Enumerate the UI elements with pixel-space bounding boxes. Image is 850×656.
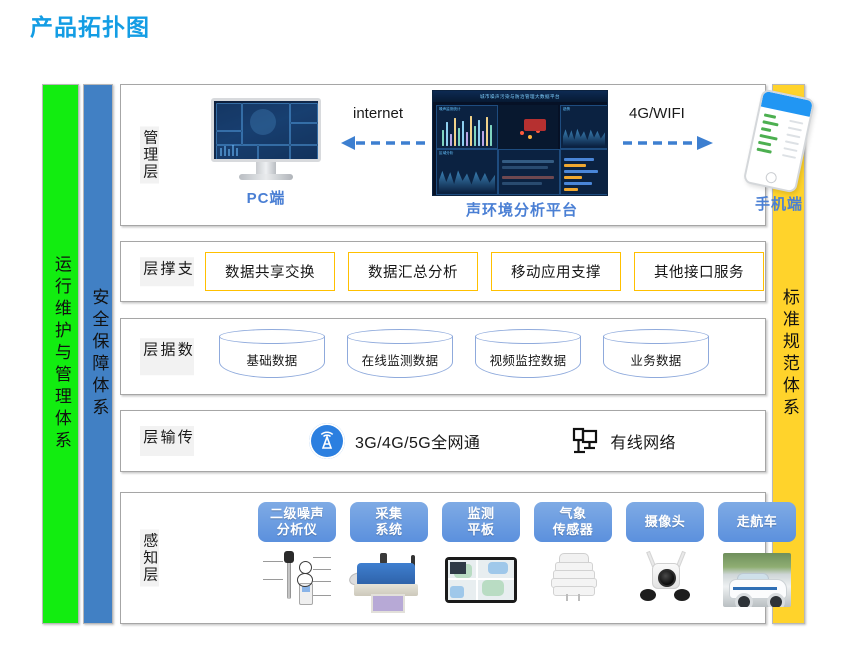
transmission-item-wireless-label: 3G/4G/5G全网通 bbox=[355, 429, 480, 453]
desktop-monitor-icon bbox=[207, 95, 325, 185]
sense-device-weather-sensor-label-1: 气象 bbox=[559, 506, 586, 522]
support-box-mobile-support[interactable]: 移动应用支撑 bbox=[491, 252, 621, 291]
management-layer-content: PC端 internet 城市噪声污染与防治管理大数据平台 噪声监测统计 bbox=[179, 85, 757, 225]
sense-device-camera-label-1: 摄像头 bbox=[645, 514, 686, 530]
side-bar-security-label: 安全保障体系 bbox=[89, 288, 108, 420]
layer-management-label: 管理层 bbox=[140, 127, 159, 184]
layer-sense: 感知层 二级噪声 分析仪 bbox=[120, 492, 766, 624]
data-cylinder-online-monitoring[interactable]: 在线监测数据 bbox=[347, 329, 453, 385]
transmission-item-wired-label: 有线网络 bbox=[610, 429, 676, 453]
support-box-data-aggregation[interactable]: 数据汇总分析 bbox=[348, 252, 478, 291]
transmission-item-wired: 有线网络 bbox=[570, 426, 676, 456]
data-layer-content: 基础数据 在线监测数据 视频监控数据 业务数据 bbox=[179, 319, 759, 394]
management-item-pc: PC端 bbox=[201, 95, 331, 208]
data-cylinder-basic[interactable]: 基础数据 bbox=[219, 329, 325, 385]
platform-screen-title: 城市噪声污染与防治管理大数据平台 bbox=[433, 91, 607, 102]
wired-network-icon bbox=[570, 426, 600, 456]
side-bar-security: 安全保障体系 bbox=[83, 84, 113, 624]
sense-device-collection-system-label-2: 系统 bbox=[375, 522, 402, 538]
camera-icon bbox=[625, 549, 705, 611]
layer-sense-label: 感知层 bbox=[140, 530, 159, 587]
arrow-right-icon bbox=[619, 131, 715, 157]
connection-4g-wifi: 4G/WIFI bbox=[619, 107, 715, 157]
connection-4g-wifi-label: 4G/WIFI bbox=[629, 105, 685, 122]
data-cylinder-video-surveillance[interactable]: 视频监控数据 bbox=[475, 329, 581, 385]
layer-support: 支撑层 数据共享交换 数据汇总分析 移动应用支撑 其他接口服务 bbox=[120, 241, 766, 302]
support-box-other-api[interactable]: 其他接口服务 bbox=[634, 252, 764, 291]
side-bar-standard-label: 标准规范体系 bbox=[779, 288, 798, 420]
connection-internet-label: internet bbox=[353, 105, 403, 122]
transmission-item-wireless: 3G/4G/5G全网通 bbox=[309, 423, 480, 459]
side-bar-operations: 运行维护与管理体系 bbox=[42, 84, 79, 624]
sense-device-weather-sensor-label-2: 传感器 bbox=[553, 522, 594, 538]
layer-data: 数据层 基础数据 在线监测数据 视频监控数据 业务数据 bbox=[120, 318, 766, 395]
data-cylinder-business-label: 业务数据 bbox=[603, 350, 709, 369]
layer-transmission: 传输层 3G/4G/5G全网通 bbox=[120, 410, 766, 472]
arrow-left-icon bbox=[339, 131, 427, 157]
wireless-signal-icon bbox=[309, 423, 345, 459]
data-cylinder-business[interactable]: 业务数据 bbox=[603, 329, 709, 385]
management-item-platform-caption: 声环境分析平台 bbox=[432, 199, 612, 220]
platform-dashboard-icon: 城市噪声污染与防治管理大数据平台 噪声监测统计 bbox=[432, 90, 608, 196]
management-item-platform: 城市噪声污染与防治管理大数据平台 噪声监测统计 bbox=[432, 90, 612, 220]
sense-device-survey-vehicle[interactable]: 走航车 bbox=[717, 502, 797, 611]
management-item-mobile-caption: 手机端 bbox=[719, 193, 839, 214]
page-title: 产品拓扑图 bbox=[30, 8, 150, 42]
sense-device-noise-analyzer[interactable]: 二级噪声 分析仪 bbox=[257, 502, 337, 611]
sense-device-monitoring-tablet-label-2: 平板 bbox=[467, 522, 494, 538]
noise-analyzer-icon bbox=[257, 549, 337, 611]
monitoring-tablet-icon bbox=[441, 549, 521, 611]
sense-layer-content: 二级噪声 分析仪 采集 系统 bbox=[179, 493, 759, 623]
sense-device-noise-analyzer-label-2: 分析仪 bbox=[277, 522, 318, 538]
support-layer-content: 数据共享交换 数据汇总分析 移动应用支撑 其他接口服务 bbox=[179, 242, 759, 301]
sense-device-noise-analyzer-label-1: 二级噪声 bbox=[270, 506, 324, 522]
survey-vehicle-icon bbox=[717, 549, 797, 611]
weather-sensor-icon bbox=[533, 549, 613, 611]
mobile-phone-icon bbox=[743, 88, 816, 193]
management-item-mobile: 手机端 bbox=[719, 93, 839, 214]
sense-device-weather-sensor[interactable]: 气象 传感器 bbox=[533, 502, 613, 611]
sense-device-monitoring-tablet-label-1: 监测 bbox=[467, 506, 494, 522]
sense-device-camera[interactable]: 摄像头 bbox=[625, 502, 705, 611]
data-cylinder-basic-label: 基础数据 bbox=[219, 350, 325, 369]
sense-device-collection-system[interactable]: 采集 系统 bbox=[349, 502, 429, 611]
layer-management: 管理层 bbox=[120, 84, 766, 226]
data-cylinder-online-monitoring-label: 在线监测数据 bbox=[347, 350, 453, 369]
collection-system-icon bbox=[349, 549, 429, 611]
sense-device-survey-vehicle-label-1: 走航车 bbox=[737, 514, 778, 530]
transmission-layer-content: 3G/4G/5G全网通 有线网络 bbox=[179, 411, 759, 471]
sense-device-collection-system-label-1: 采集 bbox=[375, 506, 402, 522]
connection-internet: internet bbox=[339, 107, 427, 157]
management-item-pc-caption: PC端 bbox=[201, 187, 331, 208]
sense-device-monitoring-tablet[interactable]: 监测 平板 bbox=[441, 502, 521, 611]
side-bar-operations-label: 运行维护与管理体系 bbox=[51, 255, 70, 453]
support-box-data-sharing[interactable]: 数据共享交换 bbox=[205, 252, 335, 291]
data-cylinder-video-surveillance-label: 视频监控数据 bbox=[475, 350, 581, 369]
